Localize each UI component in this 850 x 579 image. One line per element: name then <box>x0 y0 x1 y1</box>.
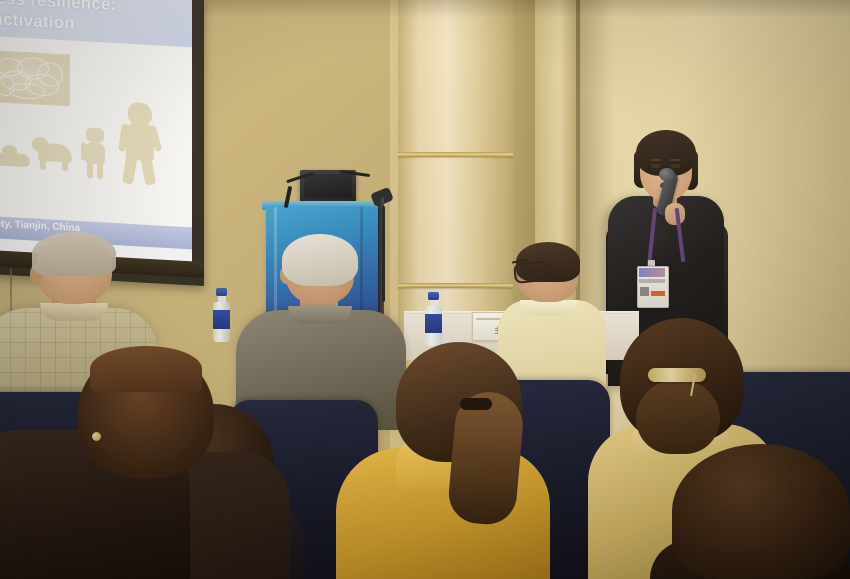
attendee-hair <box>282 234 358 286</box>
presenter-eyebrow <box>650 159 661 161</box>
attendee-hair-bun <box>636 380 720 454</box>
bottle-label <box>425 314 442 333</box>
eyeglasses <box>513 260 553 284</box>
column-gold-band <box>398 152 516 157</box>
hair-clip-ornament <box>648 368 706 382</box>
bottle-cap <box>216 288 227 296</box>
column-gold-band <box>398 283 516 288</box>
hair-tie <box>460 398 492 410</box>
presenter-eye <box>671 164 680 168</box>
microphone-head <box>659 168 675 181</box>
bottle-label <box>213 310 230 329</box>
attendee-collar <box>40 303 108 321</box>
badge-accent-bar <box>651 291 665 296</box>
attendee-hair <box>672 444 850 579</box>
attendee-collar <box>288 306 352 324</box>
badge-header-band <box>639 268 665 277</box>
badge-name-line <box>639 279 665 283</box>
earring <box>92 432 101 441</box>
bottle-cap <box>428 292 439 300</box>
slide-surface: stress resilience: ia activation <box>0 0 192 263</box>
badge-qr-code <box>640 287 649 296</box>
microphone-cable <box>382 206 385 302</box>
slide-body <box>0 36 192 227</box>
attendee-hair-top <box>90 346 202 392</box>
conference-photo-scene: stress resilience: ia activation <box>0 0 850 579</box>
panelist-collar <box>520 300 578 316</box>
attendee-hair <box>32 232 116 276</box>
brain-scan-image <box>0 50 70 106</box>
presenter-eye <box>651 164 660 168</box>
presenter-eyebrow <box>670 159 681 161</box>
laptop-screen <box>304 174 352 198</box>
